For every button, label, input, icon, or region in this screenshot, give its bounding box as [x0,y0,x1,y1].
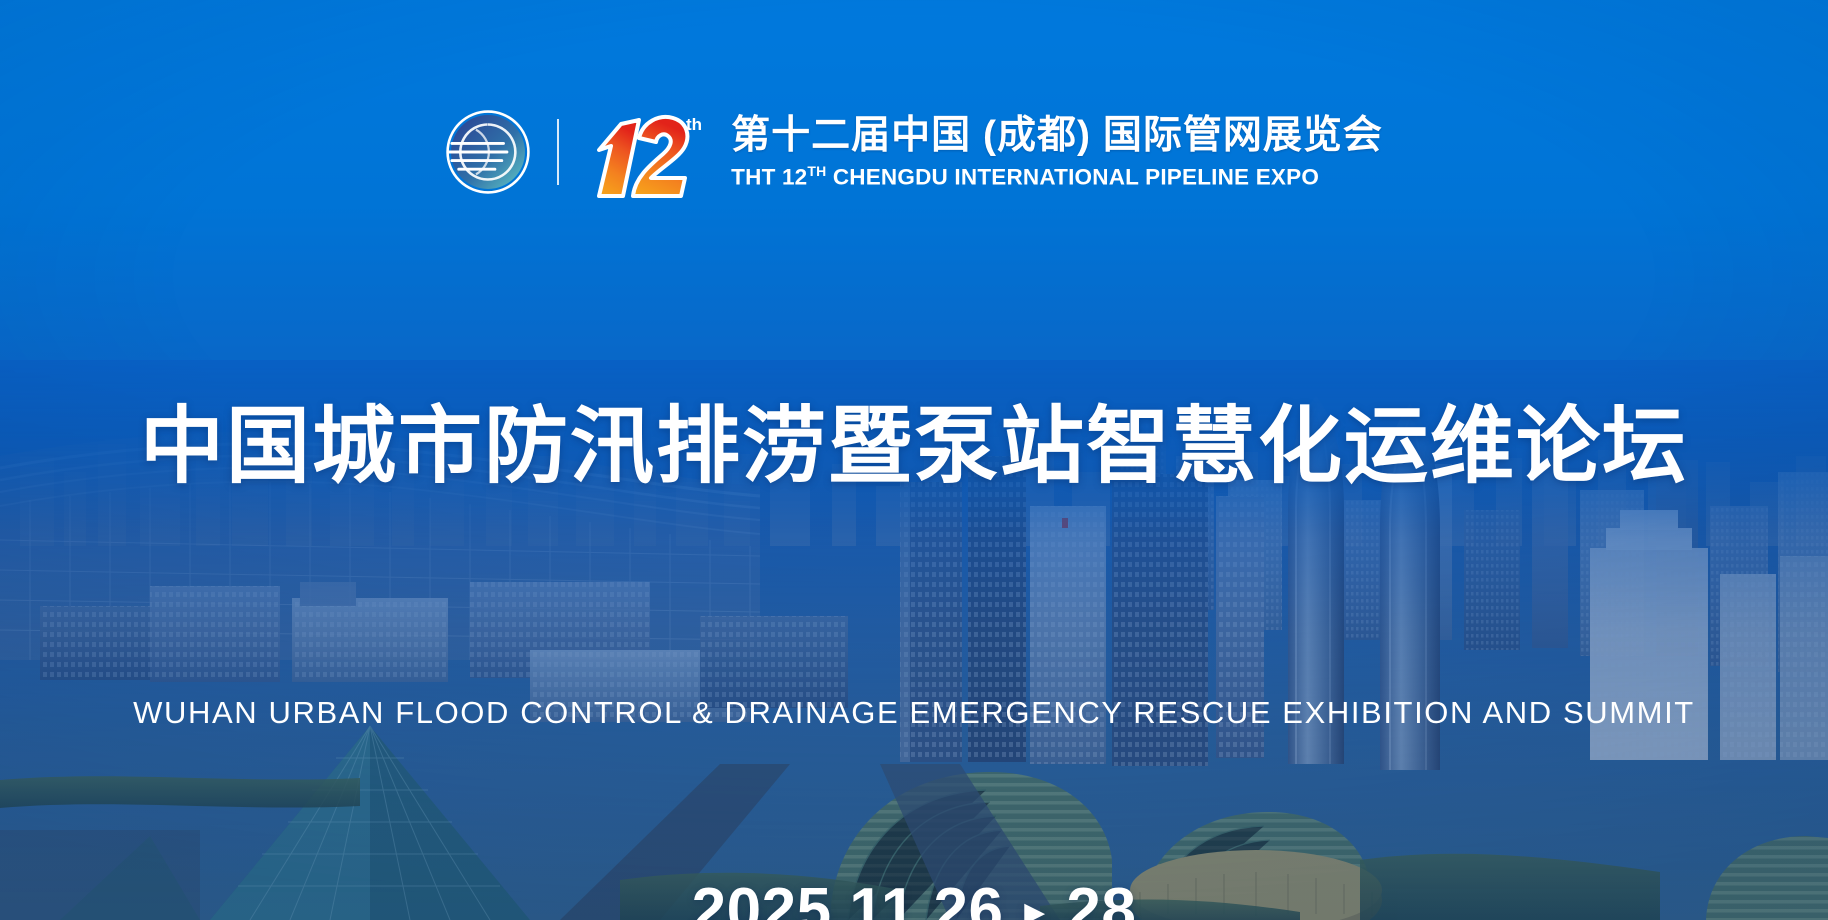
event-date-range: 2025.11.26►28 [0,880,1828,920]
edition-number-logo: th [585,104,715,200]
forum-title-cn: 中国城市防汛排涝暨泵站智慧化运维论坛 [0,404,1828,488]
expo-header-texts: 第十二届中国 (成都) 国际管网展览会 THT 12TH CHENGDU INT… [731,114,1383,190]
forum-title-en: WUHAN URBAN FLOOD CONTROL & DRAINAGE EME… [0,695,1828,731]
exhibition-banner: th 第十二届中国 (成都) 国际管网展览会 THT 12TH CHENGDU … [0,0,1828,920]
event-date-start: 2025.11.26 [692,876,1004,920]
pipeline-ring-emblem-icon [445,109,531,195]
expo-title-en: THT 12TH CHENGDU INTERNATIONAL PIPELINE … [731,163,1383,191]
event-date-end: 28 [1066,876,1136,920]
expo-title-cn: 第十二届中国 (成都) 国际管网展览会 [731,114,1383,158]
expo-title-en-post: CHENGDU INTERNATIONAL PIPELINE EXPO [826,164,1319,189]
expo-title-en-sup: TH [807,163,826,179]
vertical-divider-icon [557,119,559,185]
expo-title-en-pre: THT 12 [731,164,807,189]
play-triangle-right-icon: ► [1018,896,1053,920]
expo-header: th 第十二届中国 (成都) 国际管网展览会 THT 12TH CHENGDU … [0,104,1828,200]
svg-text:th: th [686,115,702,134]
